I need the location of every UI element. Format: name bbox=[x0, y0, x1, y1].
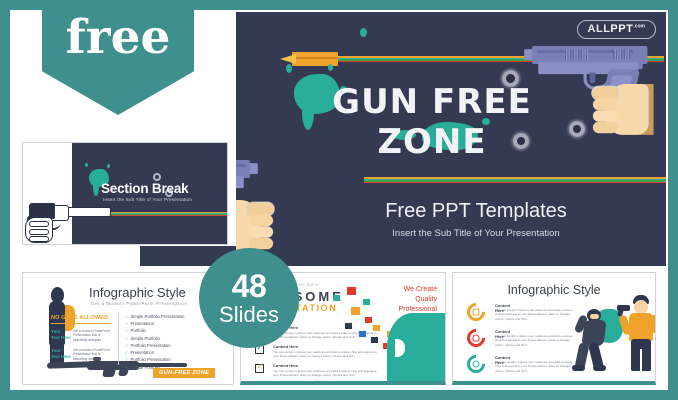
item-body: You can simply impress your audience and… bbox=[495, 334, 573, 347]
list-item: Content Here You can simply impress your… bbox=[255, 382, 377, 385]
thumbnail-infographic-rings[interactable]: Infographic Style Content Here You can s… bbox=[452, 272, 656, 385]
thumb1-highlight: NO GUNS ALLOWED bbox=[51, 315, 108, 321]
hero-slide[interactable]: ALLPPT.com bbox=[236, 12, 666, 258]
list-item: Content Here You can simply impress your… bbox=[255, 363, 377, 382]
logo-bold: PPT bbox=[610, 23, 633, 35]
thumb1-feature-list: ✓Simple Portfolio Presentation ✓Presenta… bbox=[125, 313, 185, 371]
butterfly-icon bbox=[333, 295, 340, 301]
item-body: You can simply impress your audience and… bbox=[273, 331, 377, 340]
thumb1-block-heading: YourText Here bbox=[51, 348, 71, 360]
free-ribbon: free bbox=[42, 10, 194, 115]
section-break-slide[interactable]: Section Break Insert the Sub Title of Yo… bbox=[22, 142, 228, 245]
butterfly-icon bbox=[351, 307, 360, 315]
butterfly-icon bbox=[347, 287, 356, 295]
list-item: Content Here You can simply impress your… bbox=[255, 344, 377, 363]
hero-title: GUN FREE ZONE bbox=[272, 82, 592, 162]
butterfly-icon bbox=[365, 317, 372, 323]
butterfly-icon bbox=[363, 299, 370, 305]
paint-splat-icon bbox=[286, 64, 292, 73]
paint-splat-icon bbox=[360, 28, 367, 37]
logo-prefix: ALL bbox=[588, 23, 611, 35]
paint-splat-icon bbox=[107, 164, 110, 168]
thumb1-subtitle: Get a Modern PowerPoint Presentation bbox=[91, 301, 187, 306]
item-heading: Content Here bbox=[273, 363, 377, 368]
list-item: ✓Simple Portfolio bbox=[125, 335, 185, 342]
item-heading: Content Here bbox=[273, 344, 377, 349]
paint-splat-icon bbox=[85, 163, 88, 167]
paint-splat-icon bbox=[328, 64, 333, 71]
thumb1-block-body: Get a modern PowerPoint Presentation tha… bbox=[73, 348, 113, 361]
divider bbox=[51, 323, 111, 324]
slides-count-badge: 48 Slides bbox=[199, 248, 299, 348]
divider bbox=[118, 313, 119, 365]
gun-silhouette-icon bbox=[387, 313, 446, 381]
bullet-trail-bottom-icon bbox=[364, 177, 666, 185]
right-text-line: We Create bbox=[359, 285, 437, 295]
list-item: ✓Presentation bbox=[125, 320, 185, 327]
free-ribbon-label: free bbox=[66, 14, 171, 61]
thumb1-block-heading: YourText Here bbox=[51, 329, 71, 341]
thumb1-badge: GUN-FREE ZONE bbox=[153, 368, 215, 378]
list-item: ✓Portfolio bbox=[125, 327, 185, 334]
list-item: ✓Portfolio Presentation bbox=[125, 342, 185, 349]
thief-with-sack-icon bbox=[571, 301, 623, 375]
logo-tld: .com bbox=[633, 23, 645, 29]
slides-count-number: 48 bbox=[232, 270, 267, 302]
hero-sub-subtitle: Insert the Sub Title of Your Presentatio… bbox=[326, 228, 626, 239]
list-item: ✓Simple Portfolio Presentation bbox=[125, 313, 185, 320]
ring-chart-icon bbox=[463, 299, 488, 324]
section-break-subtitle: Insert the Sub Title of Your Presentatio… bbox=[103, 197, 192, 202]
item-body: You can simply impress your audience and… bbox=[273, 350, 377, 359]
revolver-icon bbox=[25, 203, 111, 245]
allppt-logo: ALLPPT.com bbox=[577, 20, 656, 39]
right-text-line: Quality bbox=[359, 295, 437, 305]
thumb1-block-body: Get a modern PowerPoint Presentation tha… bbox=[73, 329, 113, 342]
item-body: You can simply impress your audience and… bbox=[273, 369, 377, 378]
list-item: ✓Presentation bbox=[125, 349, 185, 356]
ring-chart-icon bbox=[463, 325, 488, 350]
hero-subtitle: Free PPT Templates bbox=[326, 200, 626, 223]
checkbox-icon[interactable] bbox=[255, 383, 264, 385]
item-heading: Content Here bbox=[273, 382, 377, 385]
list-item: ✓Portfolio Presentation bbox=[125, 356, 185, 363]
man-with-gun-icon bbox=[625, 295, 656, 375]
item-body: You can simply impress your audience and… bbox=[495, 308, 573, 321]
item-body: You can simply impress your audience and… bbox=[495, 360, 573, 373]
section-break-title: Section Break bbox=[101, 181, 188, 196]
template-preview-page: free ALLPPT.com bbox=[0, 0, 678, 400]
bullet-hole-icon bbox=[155, 175, 159, 179]
ring-chart-icon bbox=[463, 351, 488, 376]
thumb1-title: Infographic Style bbox=[89, 285, 186, 300]
slides-count-label: Slides bbox=[219, 304, 279, 326]
preview-canvas: free ALLPPT.com bbox=[10, 10, 668, 390]
checkbox-icon[interactable] bbox=[255, 364, 264, 373]
